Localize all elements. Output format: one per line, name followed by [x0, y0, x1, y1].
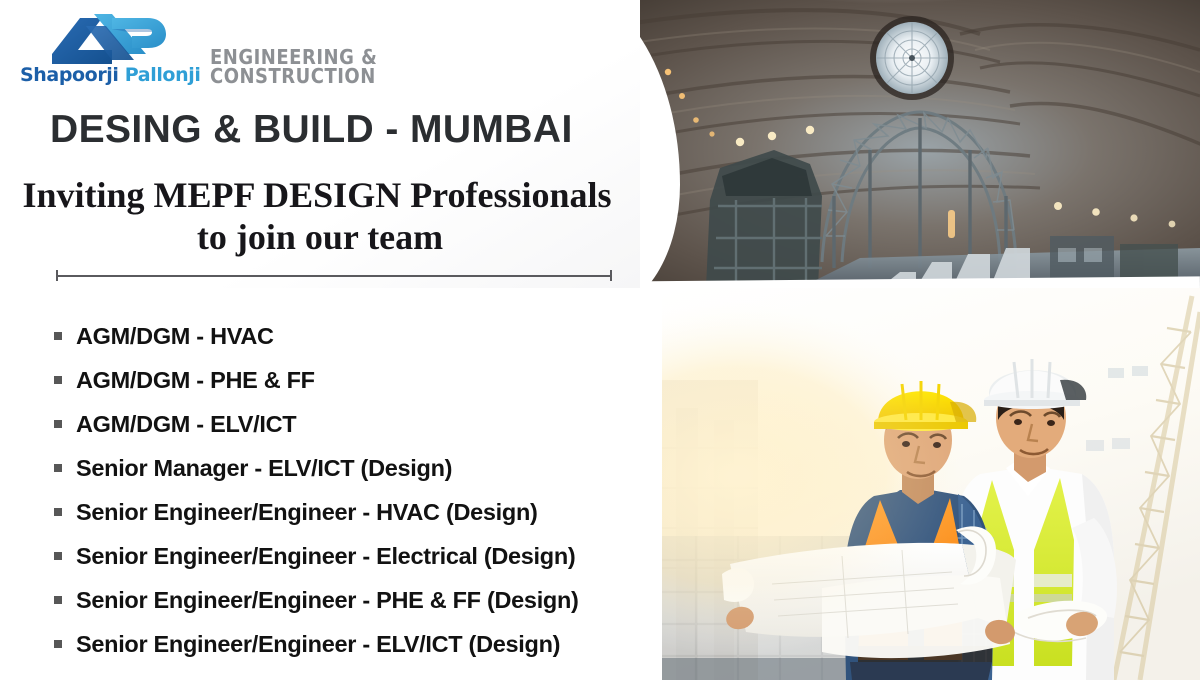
position-title: AGM/DGM - PHE & FF — [76, 367, 315, 394]
list-item[interactable]: Senior Engineer/Engineer - HVAC (Design) — [0, 490, 662, 534]
engineers-photo-artwork — [662, 288, 1200, 680]
bullet-square-icon — [54, 332, 62, 340]
bullet-square-icon — [54, 596, 62, 604]
engineers-reviewing-blueprints-photo — [662, 288, 1200, 680]
position-title: Senior Engineer/Engineer - ELV/ICT (Desi… — [76, 631, 560, 658]
divider — [56, 270, 612, 281]
bullet-square-icon — [54, 376, 62, 384]
position-title: Senior Manager - ELV/ICT (Design) — [76, 455, 452, 482]
shapoorji-pallonji-sp-monogram-icon — [50, 10, 168, 72]
invite-text: Inviting MEPF DESIGN Professionals to jo… — [0, 176, 640, 257]
divider-bar — [56, 275, 612, 277]
header-panel: Shapoorji Pallonji ENGINEERING & CONSTRU… — [0, 0, 640, 288]
brand-wordmark-shapoorji: Shapoorji — [20, 64, 119, 86]
invite-line-2: to join our team — [0, 218, 640, 258]
list-item[interactable]: AGM/DGM - ELV/ICT — [0, 402, 662, 446]
position-title: Senior Engineer/Engineer - HVAC (Design) — [76, 499, 538, 526]
tunnel-construction-photo — [560, 0, 1200, 288]
bullet-square-icon — [54, 464, 62, 472]
position-title: AGM/DGM - ELV/ICT — [76, 411, 296, 438]
list-item[interactable]: AGM/DGM - PHE & FF — [0, 358, 662, 402]
list-item[interactable]: AGM/DGM - HVAC — [0, 314, 662, 358]
recruitment-poster: Shapoorji Pallonji ENGINEERING & CONSTRU… — [0, 0, 1200, 680]
invite-line-1: Inviting MEPF DESIGN Professionals — [0, 176, 640, 216]
brand-wordmark: Shapoorji Pallonji — [20, 66, 200, 85]
list-item[interactable]: Senior Engineer/Engineer - Electrical (D… — [0, 534, 662, 578]
list-item[interactable]: Senior Engineer/Engineer - ELV/ICT (Desi… — [0, 622, 662, 666]
bullet-square-icon — [54, 508, 62, 516]
list-item[interactable]: Senior Engineer/Engineer - PHE & FF (Des… — [0, 578, 662, 622]
bullet-square-icon — [54, 420, 62, 428]
divider-cap-right — [610, 270, 612, 281]
position-title: Senior Engineer/Engineer - PHE & FF (Des… — [76, 587, 579, 614]
list-item[interactable]: Senior Manager - ELV/ICT (Design) — [0, 446, 662, 490]
brand-wordmark-pallonji: Pallonji — [125, 64, 201, 86]
bullet-square-icon — [54, 640, 62, 648]
position-title: Senior Engineer/Engineer - Electrical (D… — [76, 543, 575, 570]
positions-list: AGM/DGM - HVAC AGM/DGM - PHE & FF AGM/DG… — [0, 296, 662, 680]
bullet-square-icon — [54, 552, 62, 560]
brand-tagline: ENGINEERING & CONSTRUCTION — [210, 48, 377, 86]
brand-logo-lockup: Shapoorji Pallonji ENGINEERING & CONSTRU… — [14, 8, 444, 100]
page-title: DESING & BUILD - MUMBAI — [50, 108, 573, 152]
position-title: AGM/DGM - HVAC — [76, 323, 274, 350]
